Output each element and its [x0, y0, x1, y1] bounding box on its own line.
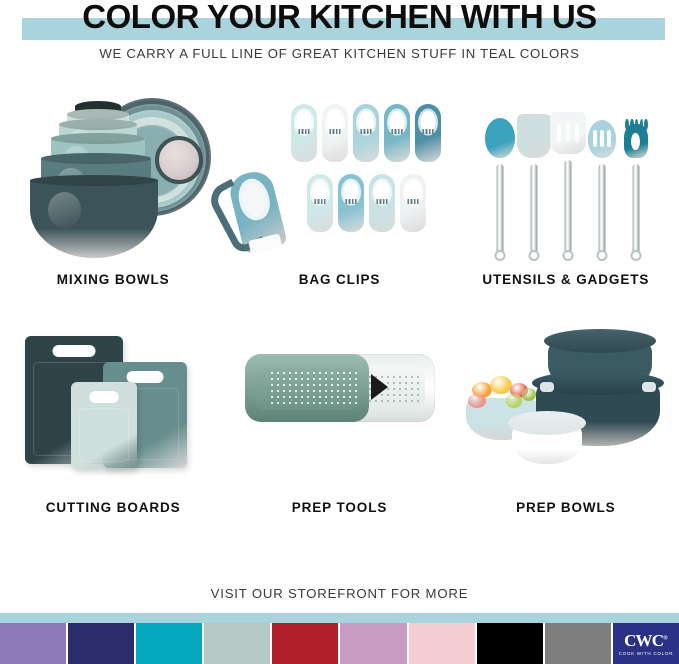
product-grid: MIXING BOWLS BAG CLIPS UTENSILS & GADGET…: [0, 92, 679, 528]
cwc-logo-mark: CWC®: [624, 632, 668, 649]
clip-teeth: [330, 129, 341, 134]
pasta-tine-2: [635, 119, 639, 131]
utensil-handle-spoon: [496, 164, 503, 260]
cwc-logo-tagline: COOK WITH COLOR: [619, 651, 674, 656]
header: COLOR YOUR KITCHEN WITH US WE CARRY A FU…: [0, 0, 679, 72]
utensil-row: [460, 92, 672, 264]
clip-teeth: [408, 199, 419, 204]
bag-clip-row1-2: [353, 104, 379, 162]
clip-teeth: [392, 129, 403, 134]
utensil-hang-ring-spatula: [528, 250, 539, 261]
colander-right-perforations: [361, 374, 421, 404]
swatch-black[interactable]: [477, 623, 543, 664]
utensil-head-spoon: [485, 118, 515, 158]
bag-clip-row1-4: [415, 104, 441, 162]
product-cell-bag-clips[interactable]: BAG CLIPS: [226, 92, 452, 300]
prep-bowl-white-lid: [508, 411, 586, 435]
utensil-slot-1: [566, 123, 570, 142]
swatch-navy[interactable]: [68, 623, 134, 664]
swatch-teal[interactable]: [136, 623, 202, 664]
mixing-bowl-5: [30, 180, 158, 258]
fruit-piece-3: [468, 394, 486, 408]
page-title: COLOR YOUR KITCHEN WITH US: [0, 0, 679, 36]
prep-bowl-set: [460, 320, 672, 492]
prep-bowl-white: [512, 424, 582, 464]
utensil-pasta-server: [622, 100, 650, 260]
cutting-board-small: [71, 382, 137, 470]
swatch-red[interactable]: [272, 623, 338, 664]
swatch-pink[interactable]: [409, 623, 475, 664]
prep-tools-image: [233, 320, 445, 492]
utensil-slot-2: [607, 130, 610, 147]
fruit-piece-1: [490, 376, 512, 394]
pasta-center-hole: [631, 133, 640, 150]
caption-bag-clips: BAG CLIPS: [299, 272, 381, 287]
bag-clip-row2-1: [338, 174, 364, 232]
product-cell-prep-tools[interactable]: PREP TOOLS: [226, 320, 452, 528]
utensil-slotted-turner: [554, 100, 582, 260]
page-subtitle: WE CARRY A FULL LINE OF GREAT KITCHEN ST…: [0, 46, 679, 61]
utensil-slot-1: [600, 130, 603, 147]
caption-cutting-boards: CUTTING BOARDS: [46, 500, 181, 515]
utensil-slotted-spoon: [588, 100, 616, 260]
product-cell-cutting-boards[interactable]: CUTTING BOARDS: [0, 320, 226, 528]
pasta-tine-4: [644, 119, 648, 131]
colander-pour-arrow: [371, 374, 388, 400]
utensil-hang-ring-pasta-server: [630, 250, 641, 261]
bowl-stack: [7, 92, 219, 264]
prep-bowl-large-lid: [544, 329, 656, 353]
bowl-highlight-5: [48, 192, 81, 228]
pasta-tine-3: [640, 119, 644, 131]
swatch-purple[interactable]: [0, 623, 66, 664]
utensil-slot-2: [575, 123, 579, 142]
bag-clip-row1-0: [291, 104, 317, 162]
clip-teeth: [377, 199, 388, 204]
prep-bowls-image: [460, 320, 672, 492]
utensil-head-slotted-turner: [550, 112, 586, 154]
board-stack: [7, 320, 219, 492]
board-handle-cutout: [90, 391, 119, 403]
clip-teeth: [299, 129, 310, 134]
board-handle-cutout: [53, 345, 96, 357]
pasta-tine-1: [630, 119, 634, 131]
cutting-boards-image: [7, 320, 219, 492]
fruit-piece-5: [522, 388, 536, 401]
utensil-hang-ring-spoon: [494, 250, 505, 261]
colander-pair: [233, 320, 445, 492]
utensil-handle-slotted-turner: [564, 160, 571, 260]
color-swatch-strip: CWC®COOK WITH COLOR: [0, 623, 679, 664]
bag-clip-row1-1: [322, 104, 348, 162]
utensil-handle-slotted-spoon: [598, 164, 605, 260]
bag-clip-row1-3: [384, 104, 410, 162]
utensil-hang-ring-slotted-turner: [562, 250, 573, 261]
bag-clip-row2-3: [400, 174, 426, 232]
clip-teeth: [315, 199, 326, 204]
prep-bowl-medium-tab-left: [540, 382, 554, 392]
utensil-handle-pasta-server: [632, 164, 639, 260]
utensil-head-slotted-spoon: [588, 120, 616, 158]
utensil-hang-ring-slotted-spoon: [596, 250, 607, 261]
utensil-slot-0: [593, 130, 596, 147]
caption-prep-bowls: PREP BOWLS: [516, 500, 616, 515]
product-cell-prep-bowls[interactable]: PREP BOWLS: [453, 320, 679, 528]
kitchen-storefront-banner: COLOR YOUR KITCHEN WITH US WE CARRY A FU…: [0, 0, 679, 664]
clip-teeth: [361, 129, 372, 134]
clip-teeth: [346, 199, 357, 204]
visit-storefront-text: VISIT OUR STOREFRONT FOR MORE: [0, 586, 679, 601]
product-cell-utensils[interactable]: UTENSILS & GADGETS: [453, 92, 679, 300]
footer-teal-band: [0, 613, 679, 623]
product-cell-mixing-bowls[interactable]: MIXING BOWLS: [0, 92, 226, 300]
utensil-spoon: [486, 100, 514, 260]
clip-teeth: [423, 129, 434, 134]
swatch-orchid[interactable]: [340, 623, 406, 664]
bag-clips-image: [233, 92, 445, 264]
caption-utensils: UTENSILS & GADGETS: [482, 272, 649, 287]
swatch-gray[interactable]: [545, 623, 611, 664]
caption-prep-tools: PREP TOOLS: [292, 500, 388, 515]
colander-left: [245, 354, 369, 422]
board-groove: [79, 408, 129, 462]
bag-clip-row2-0: [307, 174, 333, 232]
utensil-slot-0: [557, 123, 561, 142]
mixing-bowls-image: [7, 92, 219, 264]
swatch-sage[interactable]: [204, 623, 270, 664]
prep-bowl-medium-tab-right: [642, 382, 656, 392]
caption-mixing-bowls: MIXING BOWLS: [57, 272, 170, 287]
colander-left-perforations: [269, 370, 357, 408]
pasta-tine-0: [625, 119, 629, 131]
utensil-spatula: [520, 100, 548, 260]
registered-trademark-icon: ®: [663, 635, 667, 641]
utensils-image: [460, 92, 672, 264]
bag-clip-row2-2: [369, 174, 395, 232]
swatch-logo[interactable]: CWC®COOK WITH COLOR: [613, 623, 679, 664]
utensil-handle-spatula: [530, 164, 537, 260]
fruit-piece-4: [506, 394, 522, 408]
utensil-head-spatula: [517, 114, 551, 158]
utensil-head-pasta-server: [624, 124, 648, 158]
